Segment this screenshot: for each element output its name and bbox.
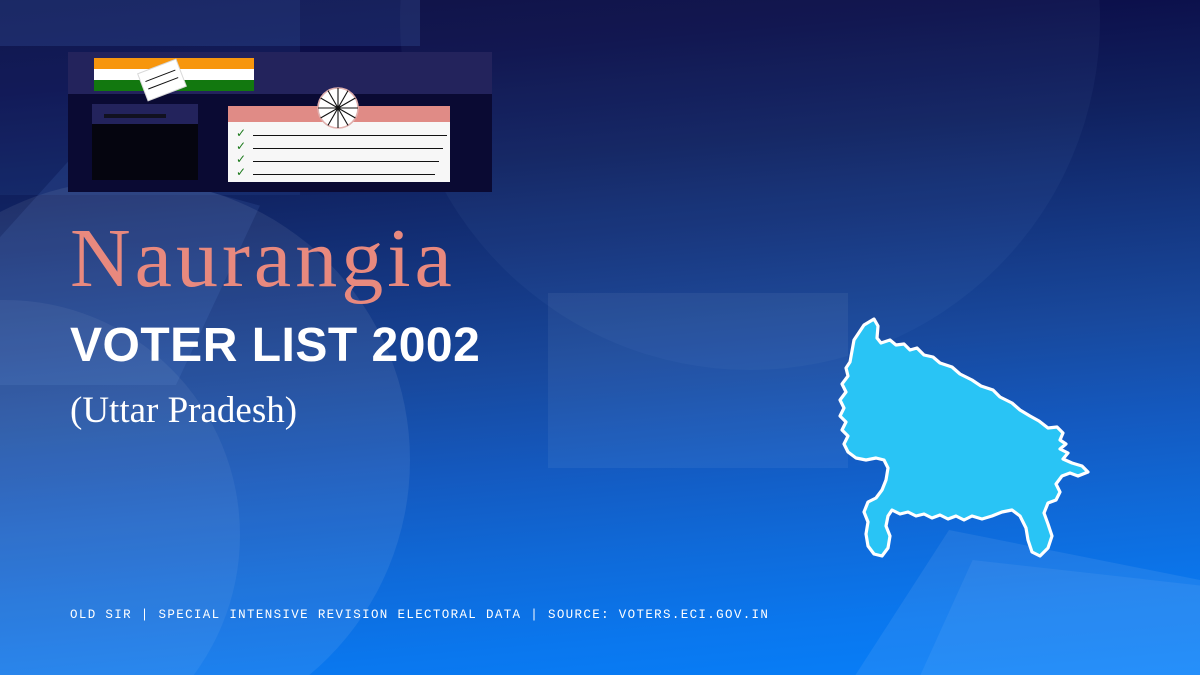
check-icon: ✓ (236, 128, 247, 139)
document-row: ✓ (236, 154, 442, 166)
election-illustration: ✓ ✓ ✓ ✓ (68, 52, 492, 192)
document-line (253, 174, 435, 175)
uttar-pradesh-map (820, 300, 1110, 580)
check-icon: ✓ (236, 154, 247, 165)
page-title: Naurangia (70, 218, 830, 300)
page-subtitle: VOTER LIST 2002 (70, 322, 830, 370)
ballot-box-icon (92, 124, 198, 180)
check-icon: ✓ (236, 141, 247, 152)
page-state-label: (Uttar Pradesh) (70, 392, 830, 429)
title-block: Naurangia VOTER LIST 2002 (Uttar Pradesh… (70, 218, 830, 429)
document-row: ✓ (236, 128, 442, 140)
document-line (253, 148, 443, 149)
document-row: ✓ (236, 141, 442, 153)
document-row: ✓ (236, 167, 442, 179)
footer-source-text: OLD SIR | SPECIAL INTENSIVE REVISION ELE… (70, 608, 769, 622)
ashoka-chakra-icon (317, 87, 359, 129)
slide-canvas: ✓ ✓ ✓ ✓ (0, 0, 1200, 675)
document-line (253, 161, 439, 162)
ballot-box-slot-icon (104, 114, 166, 118)
decorative-shape-top-strip (0, 0, 420, 46)
check-icon: ✓ (236, 167, 247, 178)
document-line (253, 135, 447, 136)
